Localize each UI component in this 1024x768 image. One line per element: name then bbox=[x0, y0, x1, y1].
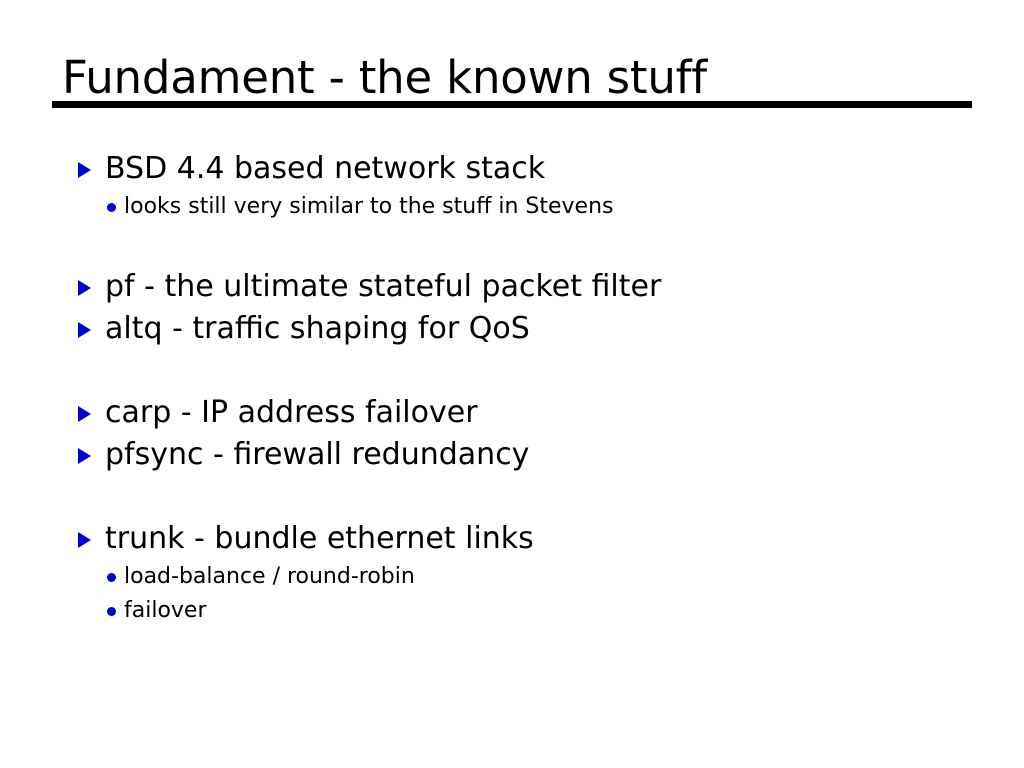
triangle-right-icon bbox=[78, 406, 91, 422]
bullet-text: carp - IP address failover bbox=[105, 392, 478, 434]
dot-icon bbox=[107, 573, 116, 582]
bullet-text: pfsync - firewall redundancy bbox=[105, 434, 529, 476]
bullet-text: load-balance / round-robin bbox=[124, 560, 415, 594]
bullet-text: failover bbox=[124, 594, 207, 628]
bullet-item-level-1: carp - IP address failover bbox=[0, 392, 1024, 434]
triangle-right-icon bbox=[78, 162, 91, 178]
bullet-item-level-1: trunk - bundle ethernet links bbox=[0, 518, 1024, 560]
bullet-text: looks still very similar to the stuff in… bbox=[124, 190, 614, 224]
slide-title: Fundament - the known stuff bbox=[62, 52, 972, 104]
bullet-item-level-1: altq - traffic shaping for QoS bbox=[0, 308, 1024, 350]
dot-icon bbox=[107, 607, 116, 616]
triangle-right-icon bbox=[78, 532, 91, 548]
triangle-right-icon bbox=[78, 280, 91, 296]
dot-icon bbox=[107, 203, 116, 212]
slide-body-bullet-list: BSD 4.4 based network stacklooks still v… bbox=[0, 148, 1024, 628]
bullet-spacer bbox=[0, 224, 1024, 266]
bullet-text: BSD 4.4 based network stack bbox=[105, 148, 545, 190]
bullet-spacer bbox=[0, 350, 1024, 392]
bullet-item-level-2: looks still very similar to the stuff in… bbox=[0, 190, 1024, 224]
title-underline-rule bbox=[52, 101, 972, 108]
bullet-item-level-1: pfsync - firewall redundancy bbox=[0, 434, 1024, 476]
bullet-spacer bbox=[0, 476, 1024, 518]
bullet-item-level-2: failover bbox=[0, 594, 1024, 628]
bullet-text: pf - the ultimate stateful packet filter bbox=[105, 266, 661, 308]
triangle-right-icon bbox=[78, 322, 91, 338]
bullet-item-level-2: load-balance / round-robin bbox=[0, 560, 1024, 594]
bullet-item-level-1: pf - the ultimate stateful packet filter bbox=[0, 266, 1024, 308]
bullet-text: trunk - bundle ethernet links bbox=[105, 518, 534, 560]
presentation-slide: Fundament - the known stuff BSD 4.4 base… bbox=[0, 0, 1024, 768]
triangle-right-icon bbox=[78, 448, 91, 464]
bullet-text: altq - traffic shaping for QoS bbox=[105, 308, 530, 350]
bullet-item-level-1: BSD 4.4 based network stack bbox=[0, 148, 1024, 190]
